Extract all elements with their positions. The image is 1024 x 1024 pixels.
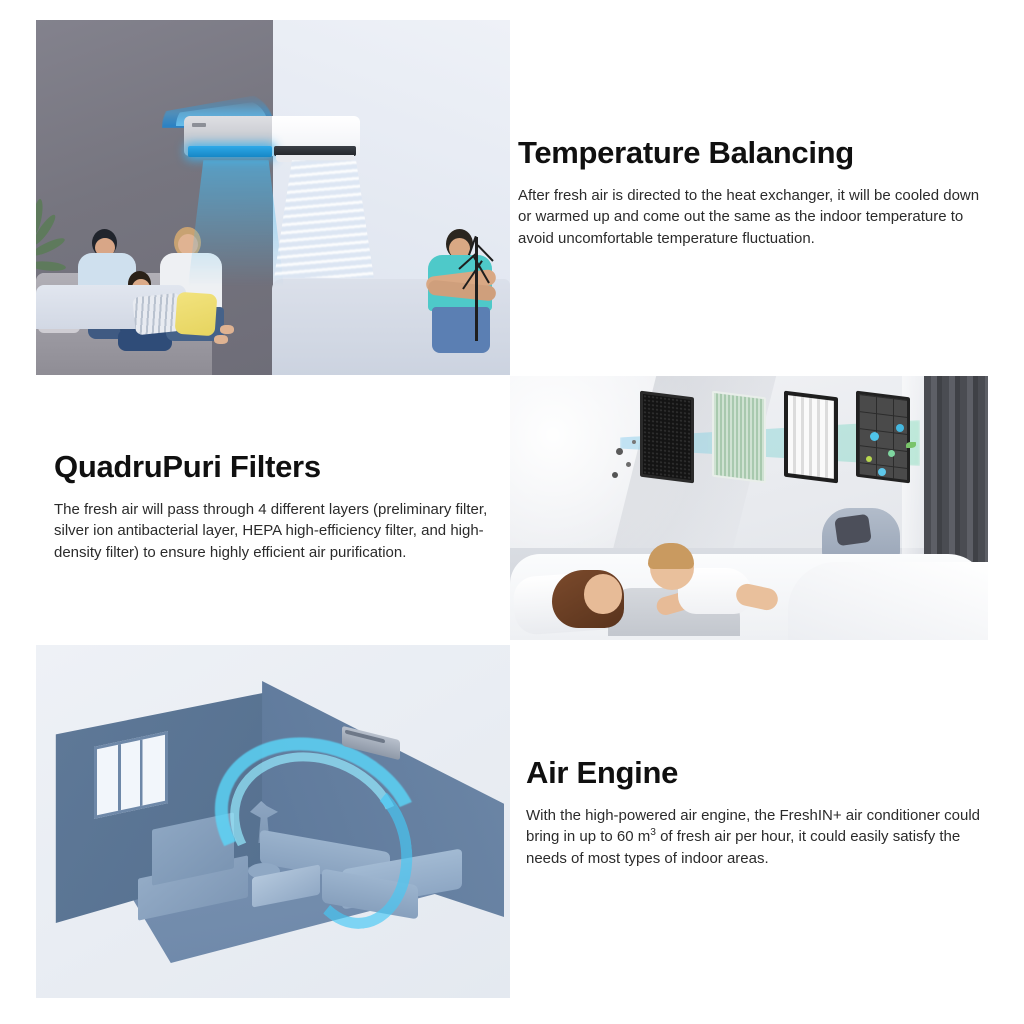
ac-vent-glow <box>188 146 272 157</box>
feature-title-temperature: Temperature Balancing <box>518 136 986 171</box>
plant-decor-icon <box>36 212 74 282</box>
figure-baby <box>650 546 778 624</box>
feature-body-air-engine: With the high-powered air engine, the Fr… <box>526 805 988 870</box>
filter-preliminary <box>640 391 694 484</box>
duvet <box>788 562 988 640</box>
feature-body-temperature: After fresh air is directed to the heat … <box>518 185 986 250</box>
isometric-room <box>42 681 502 971</box>
chair-cushion <box>834 514 872 546</box>
temperature-balancing-image <box>36 20 510 375</box>
pillow-yellow <box>175 292 218 337</box>
branch-decor-icon <box>450 229 504 341</box>
feature-title-filters: QuadruPuri Filters <box>54 450 504 485</box>
air-engine-image <box>36 645 510 998</box>
filter-hepa <box>784 391 838 484</box>
product-feature-page: Temperature Balancing After fresh air is… <box>0 0 1024 1024</box>
quadrupuri-filters-image <box>510 376 988 640</box>
cold-airflow-cone <box>188 160 284 286</box>
filter-silver-ion <box>712 391 766 484</box>
quadrupuri-filters-text: QuadruPuri Filters The fresh air will pa… <box>54 450 504 563</box>
feature-body-filters: The fresh air will pass through 4 differ… <box>54 499 504 564</box>
feature-title-air-engine: Air Engine <box>526 756 988 791</box>
air-engine-text: Air Engine With the high-powered air eng… <box>526 756 988 869</box>
temperature-balancing-text: Temperature Balancing After fresh air is… <box>518 136 986 249</box>
filter-layer-group <box>620 394 880 490</box>
